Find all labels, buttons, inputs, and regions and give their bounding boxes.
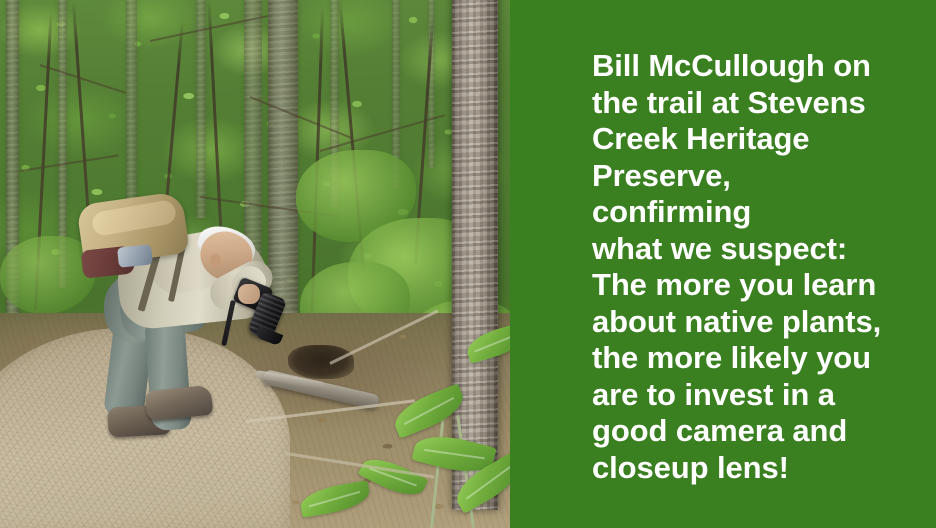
backpack-side-item [117, 244, 153, 267]
lens-hood [255, 326, 284, 347]
caption-text: Bill McCullough on the trail at Stevens … [592, 48, 892, 486]
photo-caption-card: Bill McCullough on the trail at Stevens … [0, 0, 936, 528]
ear [210, 254, 221, 267]
green-caption-panel: Bill McCullough on the trail at Stevens … [510, 0, 936, 528]
front-hiking-boot [145, 385, 214, 422]
trail-photograph [0, 0, 510, 528]
hand [238, 284, 260, 304]
